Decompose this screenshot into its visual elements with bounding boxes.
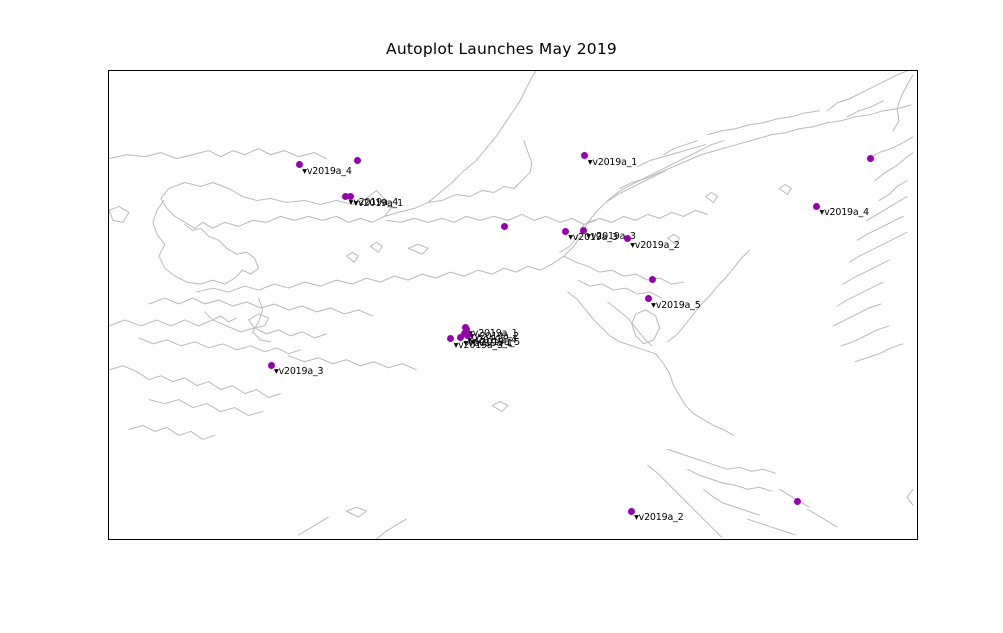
x-tick xyxy=(255,539,256,540)
data-point-label: ▾v2019a_2 xyxy=(634,512,683,523)
x-tick xyxy=(743,539,744,540)
data-point[interactable] xyxy=(794,498,801,505)
x-tick xyxy=(158,539,159,540)
x-tick xyxy=(353,539,354,540)
x-tick xyxy=(548,539,549,540)
y-tick xyxy=(108,170,109,171)
chart-title: Autoplot Launches May 2019 xyxy=(0,40,1003,58)
x-tick xyxy=(646,539,647,540)
figure-canvas: Autoplot Launches May 2019 xyxy=(0,0,1003,633)
x-tick-minor xyxy=(109,539,110,540)
y-tick xyxy=(108,71,109,72)
data-point-label: ▾v2019a_1 xyxy=(463,338,512,349)
y-tick-minor xyxy=(108,519,109,520)
x-tick-minor xyxy=(792,539,793,540)
x-tick-minor xyxy=(207,539,208,540)
data-point-label: ▾v2019a_2 xyxy=(630,240,679,251)
y-tick xyxy=(108,369,109,370)
x-tick-minor xyxy=(695,539,696,540)
data-point[interactable] xyxy=(501,223,508,230)
x-tick-minor xyxy=(499,539,500,540)
y-tick-minor xyxy=(108,220,109,221)
y-tick-minor xyxy=(108,419,109,420)
x-tick-minor xyxy=(890,539,891,540)
data-point-label: ▾v2019a_3 xyxy=(274,366,323,377)
data-point-label: ▾v2019a_4 xyxy=(302,166,351,177)
data-point[interactable] xyxy=(867,155,874,162)
data-point-label: ▾v2019a_1 xyxy=(354,198,403,209)
x-tick-minor xyxy=(304,539,305,540)
data-point[interactable] xyxy=(649,276,656,283)
data-point[interactable] xyxy=(354,157,361,164)
data-points-layer: ▾v2019a_4▾v2019a_4▾v2019a_1▾v2019a_1▾v20… xyxy=(109,71,917,539)
data-point-label: ▾v2019a_4 xyxy=(820,207,869,218)
x-tick-minor xyxy=(402,539,403,540)
y-tick xyxy=(108,270,109,271)
plot-area[interactable]: ▾v2019a_4▾v2019a_4▾v2019a_1▾v2019a_1▾v20… xyxy=(108,70,918,540)
y-tick-minor xyxy=(108,320,109,321)
x-tick xyxy=(841,539,842,540)
x-tick-minor xyxy=(597,539,598,540)
data-point-label: ▾v2019a_5 xyxy=(651,300,700,311)
y-tick xyxy=(108,469,109,470)
y-tick-minor xyxy=(108,121,109,122)
data-point-label: ▾v2019a_1 xyxy=(588,157,637,168)
x-tick xyxy=(451,539,452,540)
